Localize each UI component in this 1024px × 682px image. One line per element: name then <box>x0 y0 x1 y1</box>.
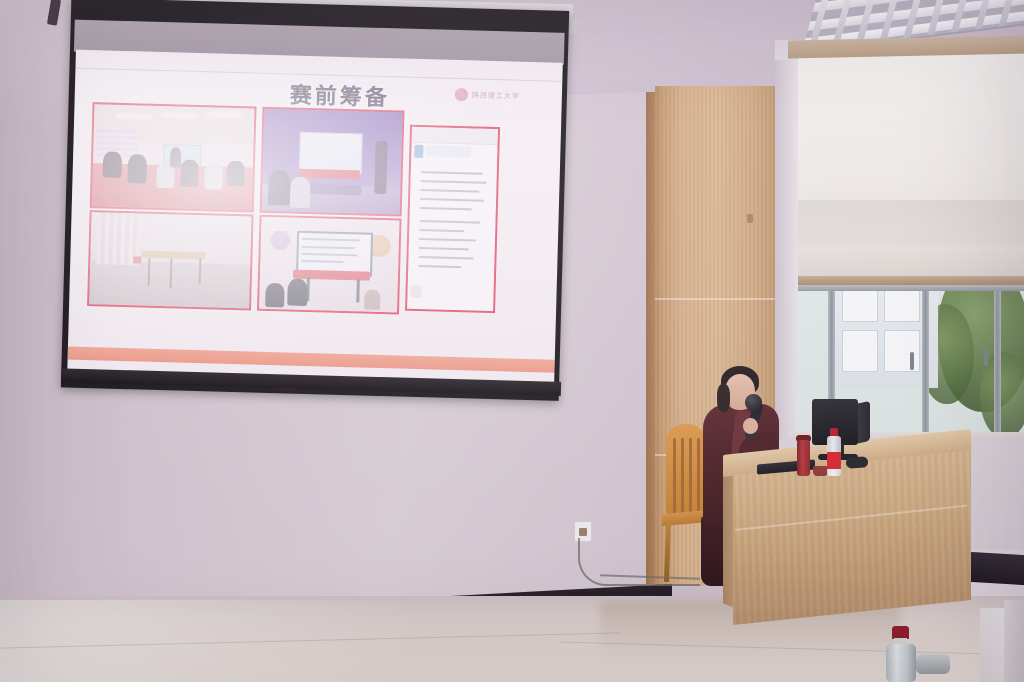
water-bottle[interactable] <box>827 428 841 476</box>
logo-mark-icon <box>455 88 468 101</box>
university-logo: 陕西理工大学 <box>455 88 520 103</box>
projection-screen[interactable]: 赛前筹备 陕西理工大学 <box>43 0 574 407</box>
podium-desk[interactable] <box>723 455 971 630</box>
screen-pull-tab[interactable] <box>279 387 295 392</box>
window-handle[interactable] <box>984 348 988 366</box>
window-handle[interactable] <box>910 352 914 370</box>
logo-text: 陕西理工大学 <box>472 90 520 101</box>
bottle-body <box>886 644 916 682</box>
blind-bottom-rail[interactable] <box>798 276 1024 285</box>
floor-sheen <box>0 600 700 682</box>
window-blind[interactable] <box>798 52 1024 282</box>
thermos-tumbler[interactable] <box>797 440 810 476</box>
panel-latch-icon <box>747 214 753 223</box>
photo-scene: 赛前筹备 陕西理工大学 <box>0 0 1024 682</box>
slide-photo-tile <box>87 210 254 310</box>
slide-footer-bar <box>68 347 555 373</box>
chair-leg <box>664 520 671 582</box>
slide-photo-tile <box>260 107 405 217</box>
slide-document-tile <box>405 125 500 313</box>
window-rail <box>798 284 1024 291</box>
mouse[interactable] <box>846 456 869 469</box>
slide-photo-tile <box>257 215 402 315</box>
small-cup[interactable] <box>813 466 828 476</box>
slide-photo-tile <box>90 102 257 212</box>
foreground-surface-edge <box>1004 600 1024 682</box>
podium-front-panel <box>733 450 971 625</box>
monitor[interactable] <box>812 399 870 461</box>
microphone-head-icon <box>745 394 762 411</box>
person-hand <box>743 418 758 434</box>
bottle-label <box>827 452 841 469</box>
foreground-water-bottle[interactable] <box>886 626 916 682</box>
screen-case-end <box>569 19 577 33</box>
person-hair-side <box>717 384 730 412</box>
presentation-slide: 赛前筹备 陕西理工大学 <box>67 50 562 383</box>
foreground-bottle-cap <box>916 654 950 674</box>
window <box>798 52 1024 442</box>
